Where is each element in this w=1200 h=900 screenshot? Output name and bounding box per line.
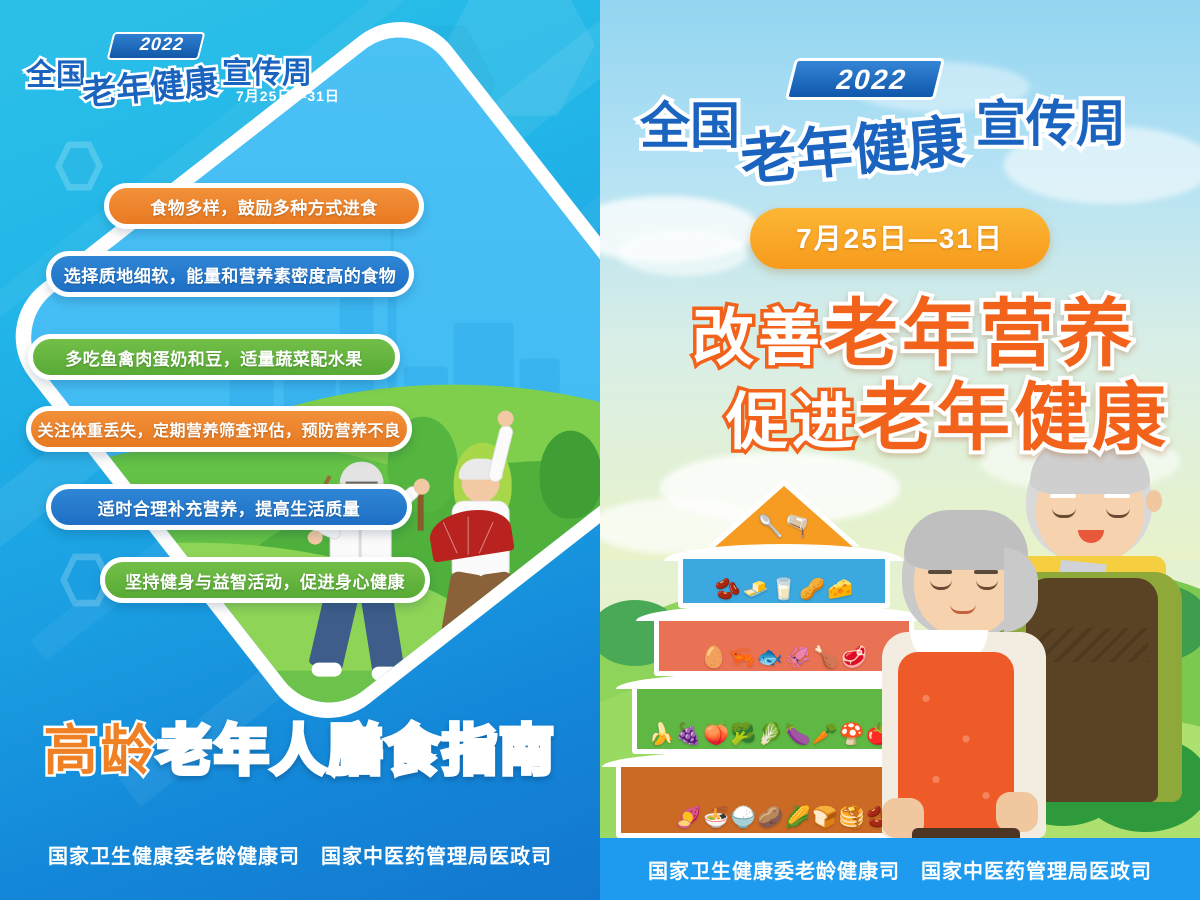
food-pancake-icon: 🥞: [839, 807, 865, 828]
left-title-highlight: 高龄: [44, 721, 158, 781]
food-rice-icon: 🍚: [730, 807, 756, 828]
slogan-line-2-lead: 促进: [726, 388, 858, 457]
food-squid-icon: 🦑: [785, 647, 811, 668]
elderly-woman-illustration: [876, 512, 1076, 838]
tip-pill-1-label: 食物多样，鼓励多种方式进食: [150, 194, 378, 219]
food-spoon-icon: 🥄: [758, 516, 784, 537]
logo-main-left: 老年健康: [80, 54, 220, 115]
left-title-rest: 老年人膳食指南: [158, 721, 557, 781]
food-cabbage-icon: 🥬: [757, 724, 783, 745]
food-eggplant-icon: 🍆: [785, 724, 811, 745]
left-footer-organizations: 国家卫生健康委老龄健康司 国家中医药管理局医政司: [0, 840, 600, 869]
food-potato-icon: 🥔: [757, 807, 783, 828]
tip-pill-3[interactable]: 多吃鱼禽肉蛋奶和豆，适量蔬菜配水果: [28, 334, 400, 380]
right-footer-label: 国家卫生健康委老龄健康司 国家中医药管理局医政司: [648, 855, 1152, 884]
food-broccoli-icon: 🥦: [730, 724, 756, 745]
food-fish-icon: 🐟: [757, 647, 783, 668]
tip-pill-2-label: 选择质地细软，能量和营养素密度高的食物: [64, 262, 397, 287]
tip-pill-5[interactable]: 适时合理补充营养，提高生活质量: [46, 484, 412, 530]
food-peach-icon: 🍑: [703, 724, 729, 745]
slogan-line-1: 改善老年营养: [600, 292, 1200, 376]
tip-pill-3-label: 多吃鱼禽肉蛋奶和豆，适量蔬菜配水果: [65, 345, 363, 370]
elderly-couple-illustration: [876, 438, 1200, 838]
food-bread-icon: 🍞: [812, 807, 838, 828]
tip-pill-4-label: 关注体重丢失，定期营养筛查评估，预防营养不良: [37, 417, 400, 441]
main-slogan: 改善老年营养 促进老年健康: [600, 292, 1200, 461]
tip-pill-2[interactable]: 选择质地细软，能量和营养素密度高的食物: [46, 251, 414, 297]
logo-lead-left: 全国: [26, 50, 86, 94]
food-beans-icon: 🫘: [715, 579, 741, 600]
right-footer-organizations: 国家卫生健康委老龄健康司 国家中医药管理局医政司: [600, 838, 1200, 900]
food-shrimp-icon: 🦐: [729, 647, 755, 668]
logo-main-right: 老年健康: [737, 96, 967, 196]
logo-lead-right: 全国: [640, 86, 740, 158]
campaign-logo-right: 2022 全国 老年健康 宣传周: [640, 62, 1160, 186]
cloud-decoration: [618, 230, 748, 276]
food-mushroom-icon: 🍄: [839, 724, 865, 745]
slogan-line-2-main: 老年健康: [858, 376, 1170, 459]
food-noodles-icon: 🍜: [703, 807, 729, 828]
food-cheese-icon: 🧀: [827, 579, 853, 600]
food-grapes-icon: 🍇: [676, 724, 702, 745]
left-poster-panel: 2022 全国 老年健康 宣传周 7月25日—31日 食物多样，鼓励多种方式进食…: [0, 0, 600, 900]
tip-pill-6[interactable]: 坚持健身与益智活动，促进身心健康: [100, 557, 430, 603]
date-range-badge: 7月25日—31日: [750, 208, 1050, 269]
tip-pill-5-label: 适时合理补充营养，提高生活质量: [98, 495, 361, 520]
tip-pill-1[interactable]: 食物多样，鼓励多种方式进食: [104, 183, 424, 229]
slogan-line-2: 促进老年健康: [600, 376, 1200, 460]
left-panel-title: 高龄老年人膳食指南: [0, 724, 600, 778]
logo-dates-left: 7月25日—31日: [236, 86, 340, 106]
food-cheese-block-icon: 🧈: [743, 579, 769, 600]
poster-root: 2022 全国 老年健康 宣传周 7月25日—31日 食物多样，鼓励多种方式进食…: [0, 0, 1200, 900]
pyramid-tier-dairy-beans: 🫘 🧈 🥛 🥜 🧀: [674, 546, 894, 610]
right-poster-panel: 2022 全国 老年健康 宣传周 7月25日—31日 改善老年营养 促进老年健康…: [600, 0, 1200, 900]
food-chicken-leg-icon: 🍗: [813, 647, 839, 668]
tip-pill-6-label: 坚持健身与益智活动，促进身心健康: [125, 568, 405, 593]
food-nuts-icon: 🥜: [799, 579, 825, 600]
campaign-logo-left: 2022 全国 老年健康 宣传周 7月25日—31日: [26, 34, 356, 116]
food-oil-jug-icon: 🫗: [784, 516, 810, 537]
pyramid-tier-oil-salt: 🥄🫗: [714, 486, 854, 548]
tip-pill-4[interactable]: 关注体重丢失，定期营养筛查评估，预防营养不良: [26, 406, 412, 452]
food-egg-icon: 🥚: [701, 647, 727, 668]
slogan-line-1-main: 老年营养: [824, 292, 1136, 375]
slogan-line-1-lead: 改善: [692, 304, 824, 373]
food-milk-carton-icon: 🥛: [771, 579, 797, 600]
food-sweet-potato-icon: 🍠: [676, 807, 702, 828]
food-banana-icon: 🍌: [649, 724, 675, 745]
logo-year-right: 2022: [812, 64, 932, 96]
food-carrot-icon: 🥕: [812, 724, 838, 745]
logo-tail-right: 宣传周: [976, 84, 1126, 156]
food-steak-icon: 🥩: [841, 647, 867, 668]
food-corn-icon: 🌽: [785, 807, 811, 828]
logo-year-left: 2022: [123, 34, 200, 55]
